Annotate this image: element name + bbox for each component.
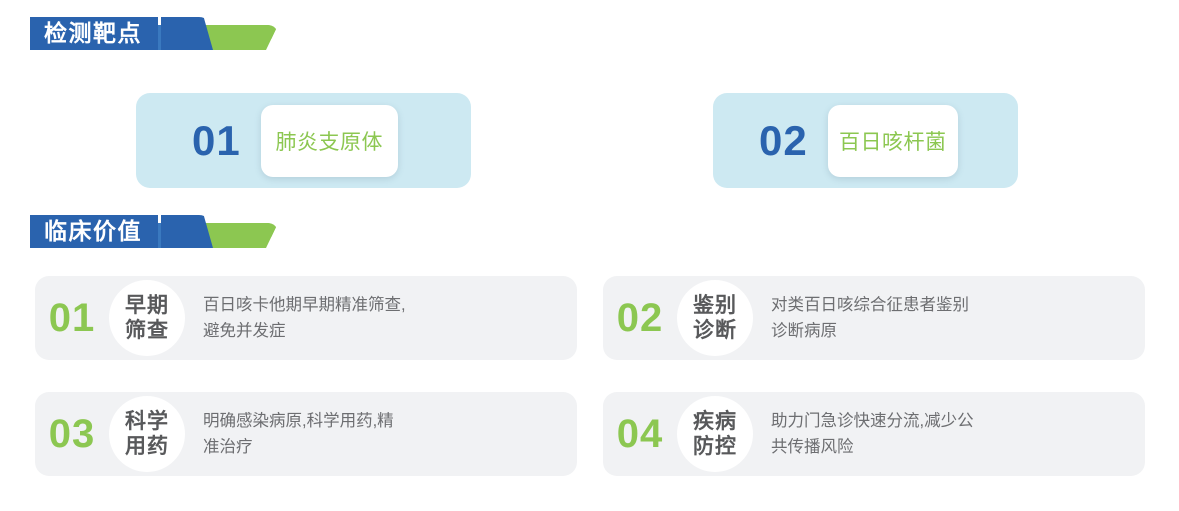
value-title-line2-02: 诊断: [693, 318, 737, 343]
target-chip-02: 百日咳杆菌: [828, 105, 958, 177]
banner-blue-block: 检测靶点: [30, 17, 158, 50]
banner-blue-block: 临床价值: [30, 215, 158, 248]
target-label-01: 肺炎支原体: [275, 126, 383, 156]
value-number-01: 01: [35, 298, 109, 338]
section-title-detection-targets: 检测靶点: [44, 17, 142, 50]
value-title-line1-03: 科学: [125, 409, 169, 434]
value-description-04: 助力门急诊快速分流,减少公 共传播风险: [771, 408, 974, 460]
banner-blue-tail: [161, 215, 213, 248]
target-card-02[interactable]: 02 百日咳杆菌: [713, 93, 1018, 188]
value-title-line1-02: 鉴别: [693, 293, 737, 318]
target-chip-01: 肺炎支原体: [261, 105, 398, 177]
value-title-line2-03: 用药: [125, 434, 169, 459]
target-card-01[interactable]: 01 肺炎支原体: [136, 93, 471, 188]
value-badge-02: 鉴别 诊断: [677, 280, 753, 356]
target-number-01: 01: [192, 120, 241, 162]
value-badge-01: 早期 筛查: [109, 280, 185, 356]
target-label-02: 百日咳杆菌: [839, 126, 947, 156]
section-title-clinical-value: 临床价值: [44, 215, 142, 248]
value-title-line1-04: 疾病: [693, 409, 737, 434]
value-card-01[interactable]: 01 早期 筛查 百日咳卡他期早期精准筛查, 避免并发症: [35, 276, 577, 360]
banner-blue-tail: [161, 17, 213, 50]
value-number-03: 03: [35, 414, 109, 454]
value-number-04: 04: [603, 414, 677, 454]
value-title-line2-01: 筛查: [125, 318, 169, 343]
value-card-03[interactable]: 03 科学 用药 明确感染病原,科学用药,精 准治疗: [35, 392, 577, 476]
value-badge-03: 科学 用药: [109, 396, 185, 472]
value-title-line1-01: 早期: [125, 293, 169, 318]
value-number-02: 02: [603, 298, 677, 338]
value-description-03: 明确感染病原,科学用药,精 准治疗: [203, 408, 394, 460]
value-description-01: 百日咳卡他期早期精准筛查, 避免并发症: [203, 292, 406, 344]
value-description-02: 对类百日咳综合征患者鉴别 诊断病原: [771, 292, 969, 344]
value-title-line2-04: 防控: [693, 434, 737, 459]
target-number-02: 02: [759, 120, 808, 162]
value-badge-04: 疾病 防控: [677, 396, 753, 472]
value-card-04[interactable]: 04 疾病 防控 助力门急诊快速分流,减少公 共传播风险: [603, 392, 1145, 476]
value-card-02[interactable]: 02 鉴别 诊断 对类百日咳综合征患者鉴别 诊断病原: [603, 276, 1145, 360]
